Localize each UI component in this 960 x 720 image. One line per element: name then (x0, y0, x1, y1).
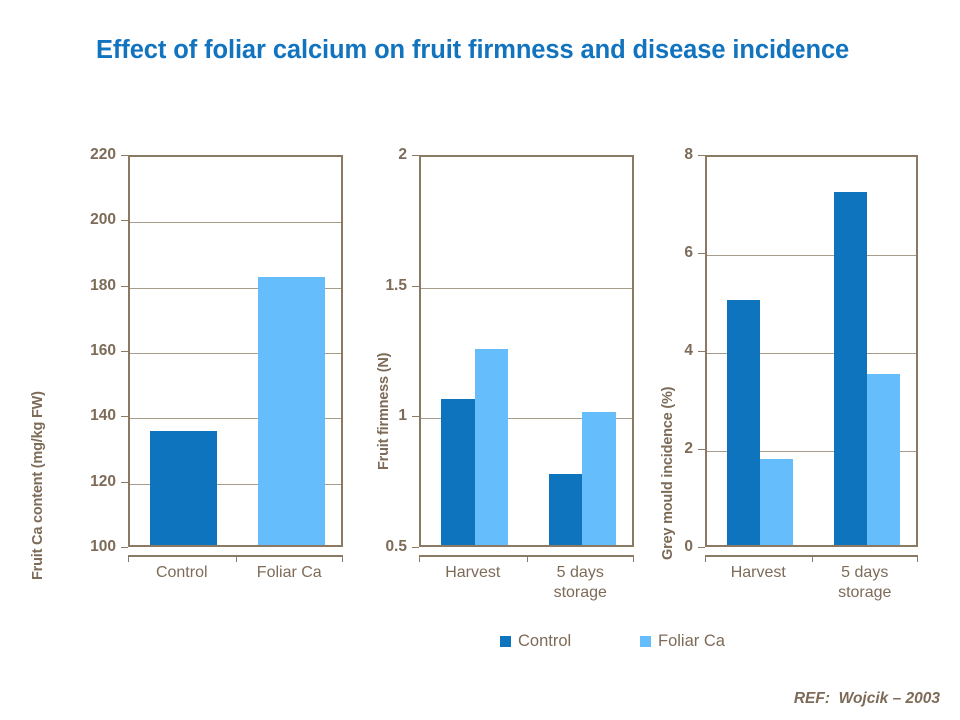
y-tick-mark (121, 286, 128, 287)
bar-foliar-ca (258, 277, 325, 545)
y-tick-mark (412, 286, 419, 287)
x-tick-mark (342, 555, 343, 562)
y-tick-mark (412, 547, 419, 548)
chart-2-plot: 0.511.52Harvest5 days storage (419, 155, 634, 547)
legend-item-foliar-ca[interactable]: Foliar Ca (640, 630, 725, 652)
y-tick-label: 200 (56, 211, 116, 229)
chart-1-plot: 100120140160180200220ControlFoliar Ca (128, 155, 343, 547)
legend-label: Foliar Ca (658, 632, 725, 651)
y-tick-label: 4 (633, 342, 693, 360)
y-tick-label: 120 (56, 473, 116, 491)
bar-control (441, 399, 474, 545)
x-tick-mark (419, 555, 420, 562)
bar-control (727, 300, 760, 545)
x-tick-mark (633, 555, 634, 562)
x-tick-label: Harvest (419, 563, 527, 583)
x-tick-mark (812, 555, 813, 562)
y-tick-mark (121, 351, 128, 352)
y-tick-mark (121, 547, 128, 548)
chart-1-y-axis-title: Fruit Ca content (mg/kg FW) (30, 391, 46, 580)
x-tick-label: Foliar Ca (236, 563, 344, 583)
x-tick-mark (527, 555, 528, 562)
y-tick-mark (698, 155, 705, 156)
bar-foliar-ca (582, 412, 615, 545)
x-tick-mark (917, 555, 918, 562)
y-tick-mark (698, 449, 705, 450)
y-tick-label: 1 (347, 407, 407, 425)
x-tick-mark (236, 555, 237, 562)
y-tick-label: 6 (633, 244, 693, 262)
x-tick-label: Harvest (705, 563, 812, 583)
y-tick-mark (698, 253, 705, 254)
page-title: Effect of foliar calcium on fruit firmne… (96, 34, 916, 67)
y-tick-label: 2 (633, 440, 693, 458)
plot-frame (128, 155, 343, 547)
y-tick-mark (121, 155, 128, 156)
y-tick-label: 160 (56, 342, 116, 360)
chart-3-y-axis-title: Grey mould incidence (%) (660, 387, 676, 560)
y-tick-mark (121, 482, 128, 483)
bar-foliar-ca (760, 459, 793, 545)
y-tick-mark (412, 155, 419, 156)
x-tick-label: Control (128, 563, 236, 583)
reference-citation: REF: Wojcik – 2003 (794, 690, 940, 708)
y-tick-label: 0.5 (347, 538, 407, 556)
bar-foliar-ca (475, 349, 508, 545)
x-tick-label: 5 days storage (527, 563, 635, 602)
chart-3-plot: 02468Harvest5 days storage (705, 155, 918, 547)
y-tick-label: 140 (56, 407, 116, 425)
legend-item-control[interactable]: Control (500, 630, 571, 652)
y-tick-mark (121, 220, 128, 221)
x-tick-mark (705, 555, 706, 562)
x-tick-label: 5 days storage (812, 563, 919, 602)
legend-swatch-icon (500, 636, 511, 647)
y-tick-mark (698, 351, 705, 352)
bar-control (150, 431, 217, 545)
y-tick-label: 8 (633, 146, 693, 164)
y-tick-mark (698, 547, 705, 548)
y-tick-label: 180 (56, 277, 116, 295)
plot-frame (705, 155, 918, 547)
y-tick-label: 2 (347, 146, 407, 164)
chart-legend: ControlFoliar Ca (500, 630, 820, 656)
gridline (707, 255, 916, 256)
y-tick-label: 0 (633, 538, 693, 556)
plot-frame (419, 155, 634, 547)
y-tick-label: 100 (56, 538, 116, 556)
gridline (130, 222, 341, 223)
gridline (421, 288, 632, 289)
bar-control (834, 192, 867, 545)
y-tick-label: 1.5 (347, 277, 407, 295)
y-tick-mark (121, 416, 128, 417)
x-tick-mark (128, 555, 129, 562)
legend-label: Control (518, 632, 571, 651)
legend-swatch-icon (640, 636, 651, 647)
y-tick-mark (412, 416, 419, 417)
y-tick-label: 220 (56, 146, 116, 164)
bar-control (549, 474, 582, 545)
bar-foliar-ca (867, 374, 900, 546)
